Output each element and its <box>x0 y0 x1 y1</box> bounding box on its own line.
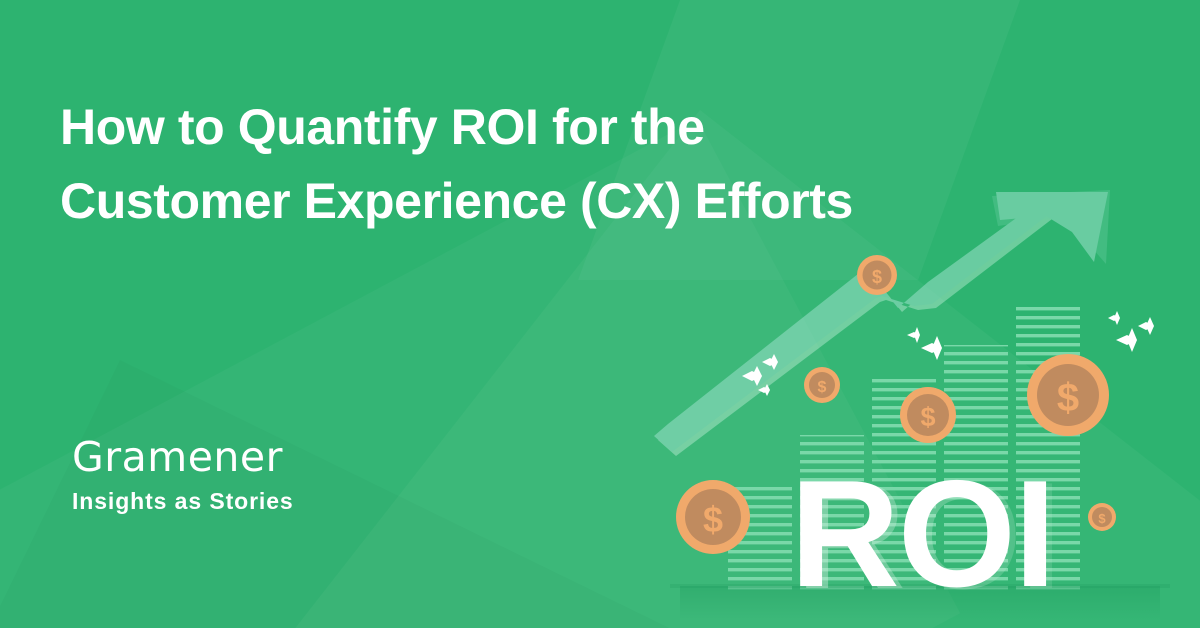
roi-wordmark-text: ROI <box>790 449 1054 619</box>
coin-mid-left-small: $ <box>804 367 840 403</box>
svg-text:$: $ <box>818 379 827 396</box>
svg-text:$: $ <box>872 267 882 287</box>
coin-top-small: $ <box>857 255 897 295</box>
sparkle-mid-cluster <box>907 327 942 360</box>
social-share-banner: How to Quantify ROI for the Customer Exp… <box>0 0 1200 628</box>
roi-illustration: ROI ROI <box>640 190 1200 628</box>
svg-text:$: $ <box>920 402 935 432</box>
brand-logo: Gramener Insights as Stories <box>72 437 294 513</box>
coin-bottom-left-large: $ <box>676 480 750 554</box>
svg-text:$: $ <box>1098 511 1106 526</box>
svg-text:$: $ <box>703 499 723 540</box>
logo-tagline: Insights as Stories <box>72 490 294 513</box>
logo-wordmark: Gramener <box>72 437 294 478</box>
page-title-line-1: How to Quantify ROI for the <box>60 90 1090 164</box>
roi-wordmark: ROI ROI <box>790 449 1060 621</box>
coin-right-large: $ <box>1027 354 1109 436</box>
sparkle-right-cluster <box>1108 311 1154 352</box>
coin-bottom-right-tiny: $ <box>1088 503 1116 531</box>
svg-text:$: $ <box>1057 376 1079 420</box>
coin-center-medium: $ <box>900 387 956 443</box>
